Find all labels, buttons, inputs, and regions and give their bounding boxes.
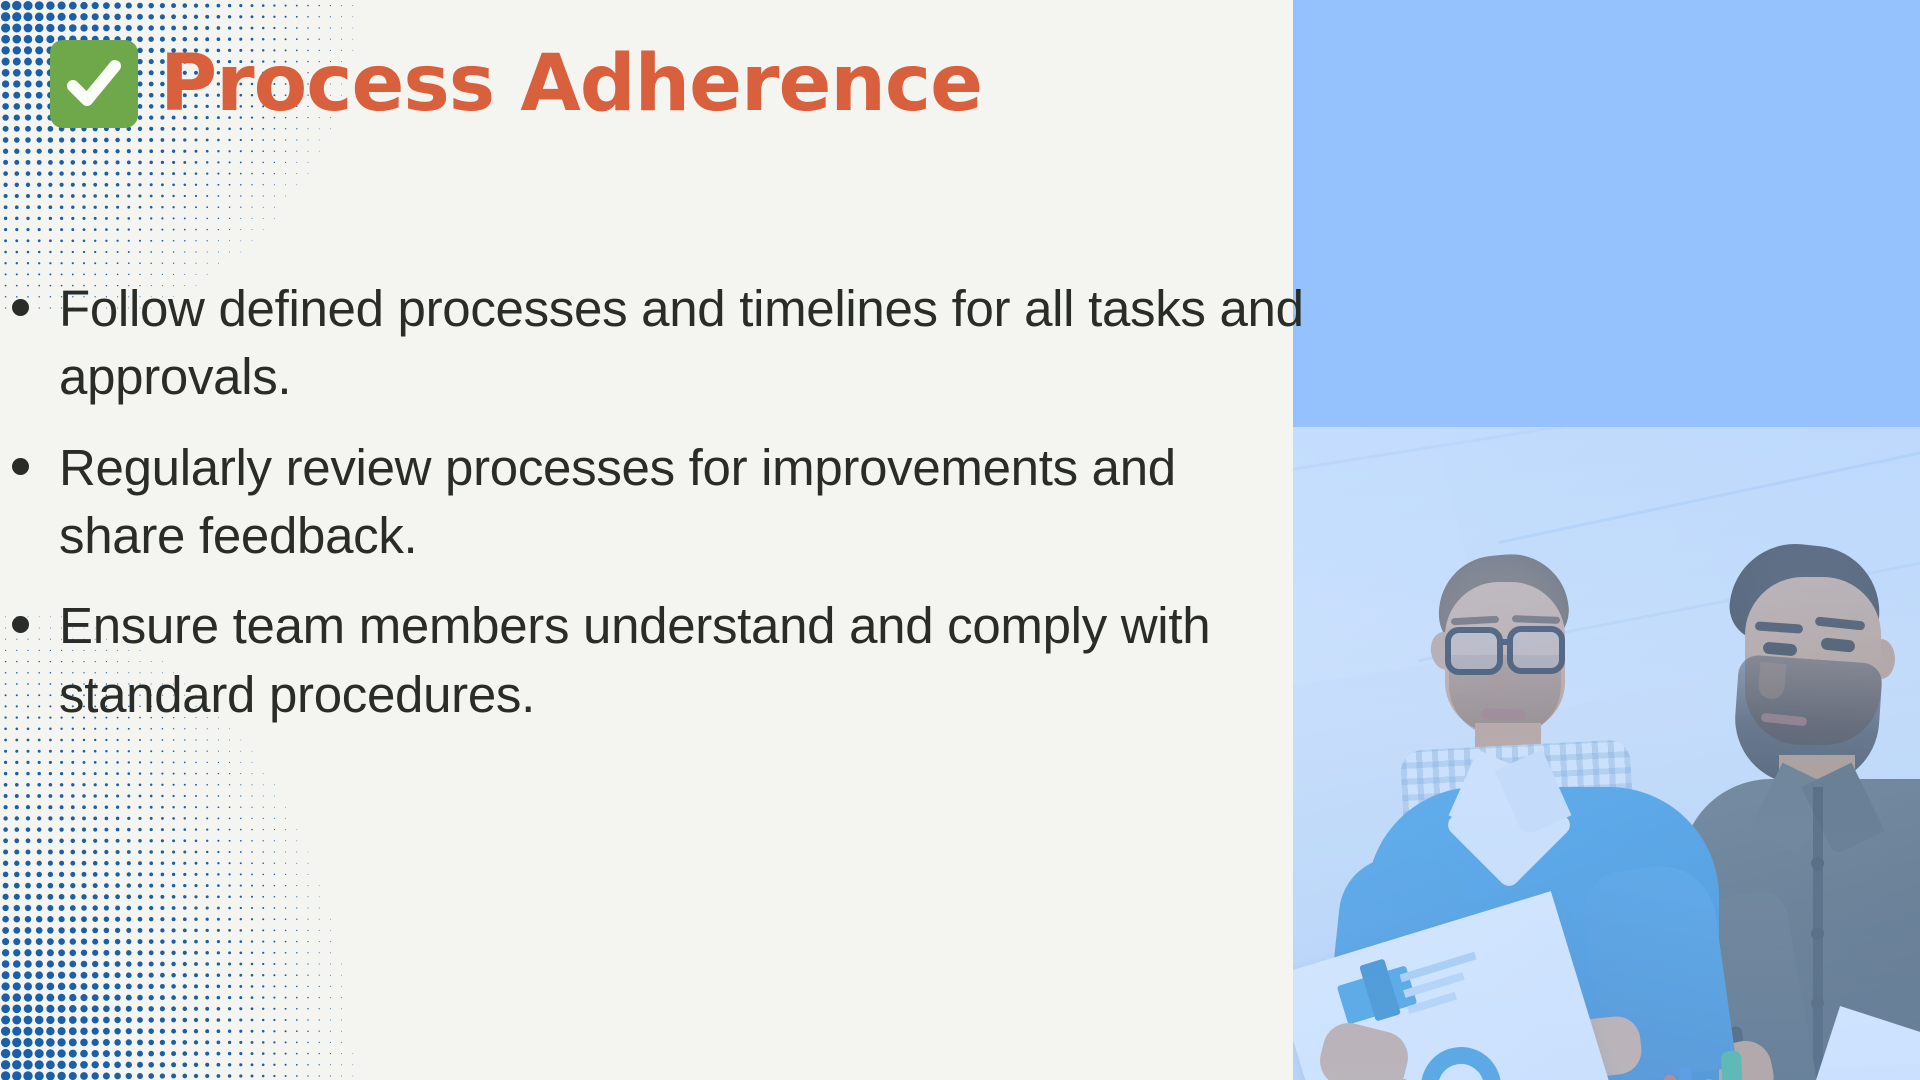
white-check-mark-icon	[50, 40, 138, 128]
list-item: Follow defined processes and timelines f…	[12, 275, 1312, 412]
bullet-dot-icon	[12, 616, 29, 633]
bullet-list: Follow defined processes and timelines f…	[12, 275, 1312, 751]
title-row: Process Adherence	[50, 40, 982, 128]
bullet-dot-icon	[12, 299, 29, 316]
bullet-dot-icon	[12, 458, 29, 475]
list-item: Ensure team members understand and compl…	[12, 592, 1312, 729]
slide-canvas: M FINANCIAL REPORT	[0, 0, 1920, 1080]
list-item-text: Regularly review processes for improveme…	[59, 434, 1309, 571]
list-item-text: Ensure team members understand and compl…	[59, 592, 1309, 729]
page-title: Process Adherence	[160, 45, 982, 123]
list-item-text: Follow defined processes and timelines f…	[59, 275, 1309, 412]
list-item: Regularly review processes for improveme…	[12, 434, 1312, 571]
slide-content: Process Adherence Follow defined process…	[0, 0, 1920, 1080]
